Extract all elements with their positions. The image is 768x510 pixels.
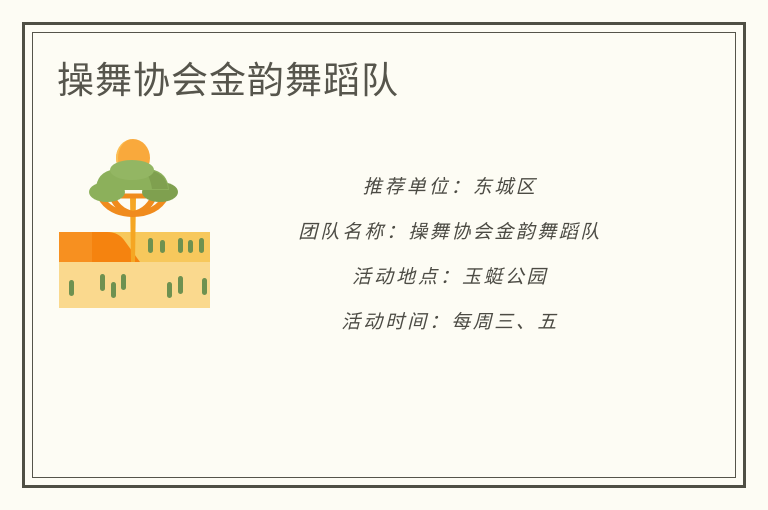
savanna-tree-icon — [52, 136, 217, 308]
info-card: 操舞协会金韵舞蹈队 — [0, 0, 768, 510]
info-value: 每周三、五 — [451, 311, 559, 333]
info-row-activity-location: 活动地点：玉蜓公园 — [215, 255, 685, 300]
info-row-recommending-unit: 推荐单位：东城区 — [215, 165, 685, 210]
hill-highlight — [59, 232, 92, 262]
team-info-block: 推荐单位：东城区 团队名称：操舞协会金韵舞蹈队 活动地点：玉蜓公园 活动时间：每… — [215, 165, 685, 345]
savanna-tree-illustration — [52, 136, 217, 308]
info-label: 活动时间： — [341, 311, 451, 333]
sand-lower-band — [59, 258, 210, 308]
info-value: 玉蜓公园 — [462, 266, 548, 288]
info-value: 东城区 — [473, 176, 538, 198]
info-label: 推荐单位： — [363, 176, 473, 198]
info-row-team-name: 团队名称：操舞协会金韵舞蹈队 — [215, 210, 685, 255]
info-label: 活动地点： — [352, 266, 462, 288]
info-value: 操舞协会金韵舞蹈队 — [408, 221, 602, 243]
tree-trunk — [130, 196, 136, 262]
card-content: 操舞协会金韵舞蹈队 — [0, 0, 768, 510]
info-label: 团队名称： — [298, 221, 408, 243]
info-row-activity-time: 活动时间：每周三、五 — [215, 300, 685, 345]
page-title: 操舞协会金韵舞蹈队 — [57, 58, 399, 104]
